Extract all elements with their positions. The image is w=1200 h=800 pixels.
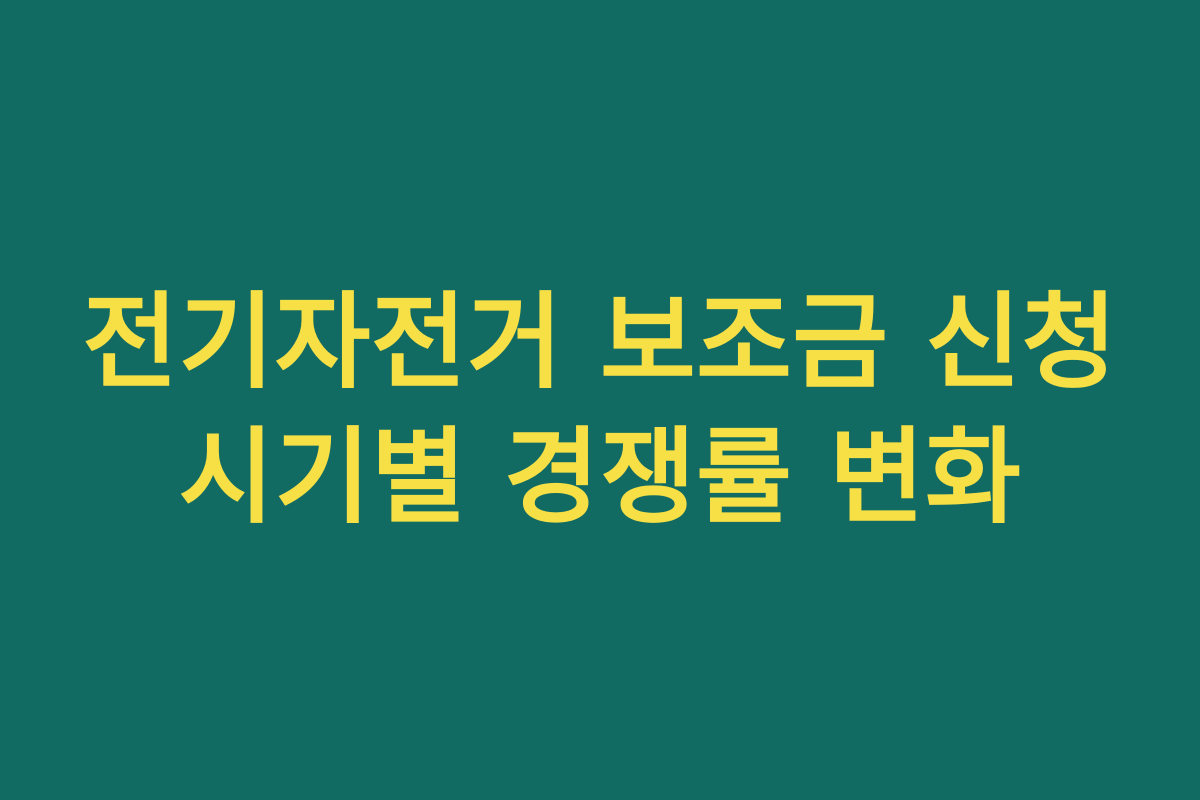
page-title: 전기자전거 보조금 신청 시기별 경쟁률 변화: [0, 275, 1200, 545]
title-line-2: 시기별 경쟁률 변화: [40, 410, 1160, 545]
title-banner: 전기자전거 보조금 신청 시기별 경쟁률 변화: [0, 0, 1200, 800]
title-line-1: 전기자전거 보조금 신청: [40, 275, 1160, 410]
